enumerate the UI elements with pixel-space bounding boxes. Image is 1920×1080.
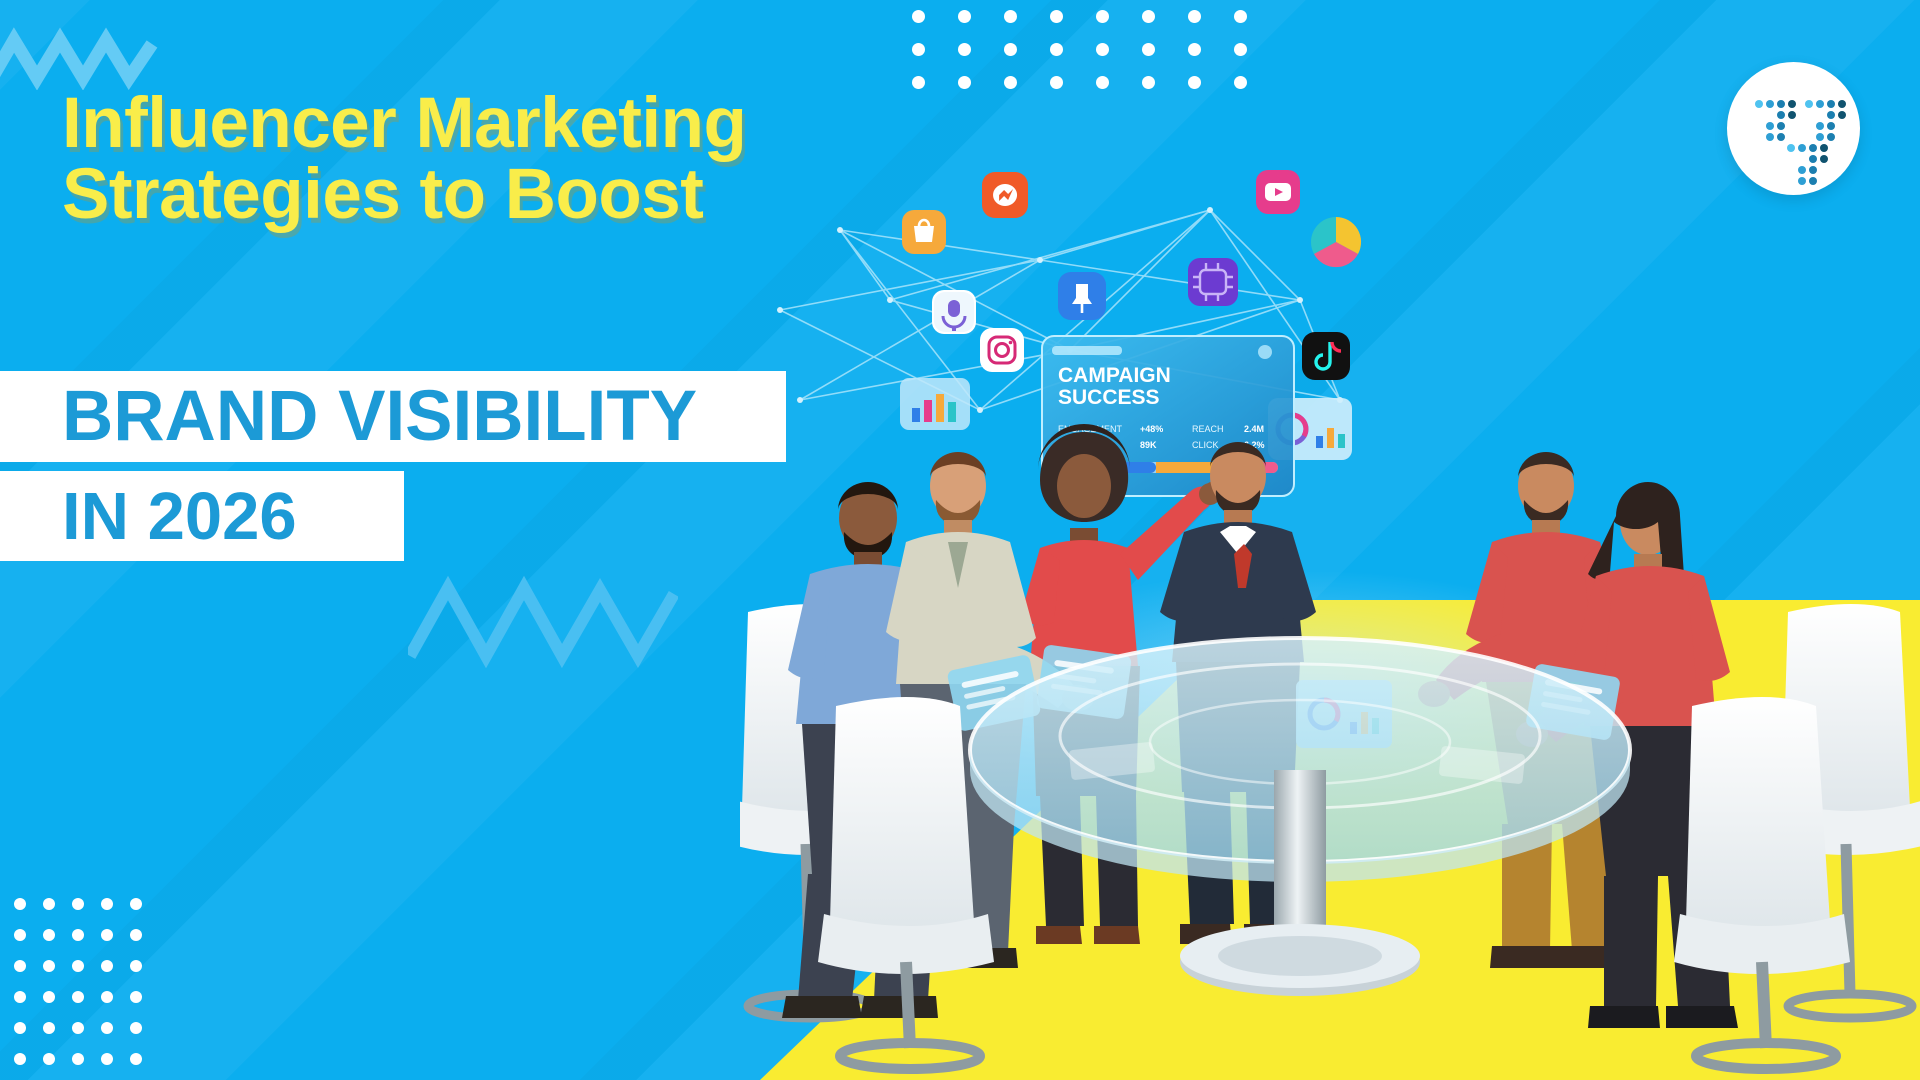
svg-text:SUCCESS: SUCCESS	[1058, 386, 1160, 409]
headline-line-2: Strategies to Boost	[62, 159, 942, 230]
svg-text:89K: 89K	[1140, 440, 1157, 450]
social-icon-pin	[1058, 272, 1106, 320]
zigzag-top-left-icon	[0, 20, 162, 90]
dot-grid-bottom-left	[14, 898, 159, 1080]
headline-line-4: IN 2026	[62, 483, 297, 550]
headline-line-1: Influencer Marketing	[62, 88, 942, 159]
headline-band-brand-visibility: BRAND VISIBILITY	[0, 371, 786, 462]
dot-grid-top-right	[912, 10, 1280, 109]
brand-logo[interactable]	[1727, 62, 1860, 195]
social-icon-podcast	[932, 290, 976, 334]
svg-text:CAMPAIGN: CAMPAIGN	[1058, 364, 1171, 387]
svg-text:REACH: REACH	[1192, 424, 1224, 434]
meeting-illustration: CAMPAIGN SUCCESS ENGAGEMENT +48% REACH 2…	[740, 150, 1920, 1080]
dot-matrix-seven-logo-icon	[1727, 62, 1860, 195]
svg-text:CLICK: CLICK	[1192, 440, 1219, 450]
social-icon-youtube	[1256, 170, 1300, 214]
svg-text:2.4M: 2.4M	[1244, 424, 1264, 434]
social-icon-messenger	[982, 172, 1028, 218]
banner-canvas: CAMPAIGN SUCCESS ENGAGEMENT +48% REACH 2…	[0, 0, 1920, 1080]
zigzag-mid-left-icon	[408, 568, 678, 668]
headline-line-3: BRAND VISIBILITY	[62, 381, 697, 452]
social-icon-pie-chart	[1311, 217, 1361, 267]
social-icon-instagram	[980, 328, 1024, 372]
headline-band-year: IN 2026	[0, 471, 404, 561]
social-icon-tiktok	[1302, 332, 1350, 380]
social-icon-chart-card	[900, 378, 970, 430]
headline-block: Influencer Marketing Strategies to Boost	[62, 88, 942, 230]
social-icon-chip	[1188, 258, 1238, 306]
svg-text:+48%: +48%	[1140, 424, 1163, 434]
